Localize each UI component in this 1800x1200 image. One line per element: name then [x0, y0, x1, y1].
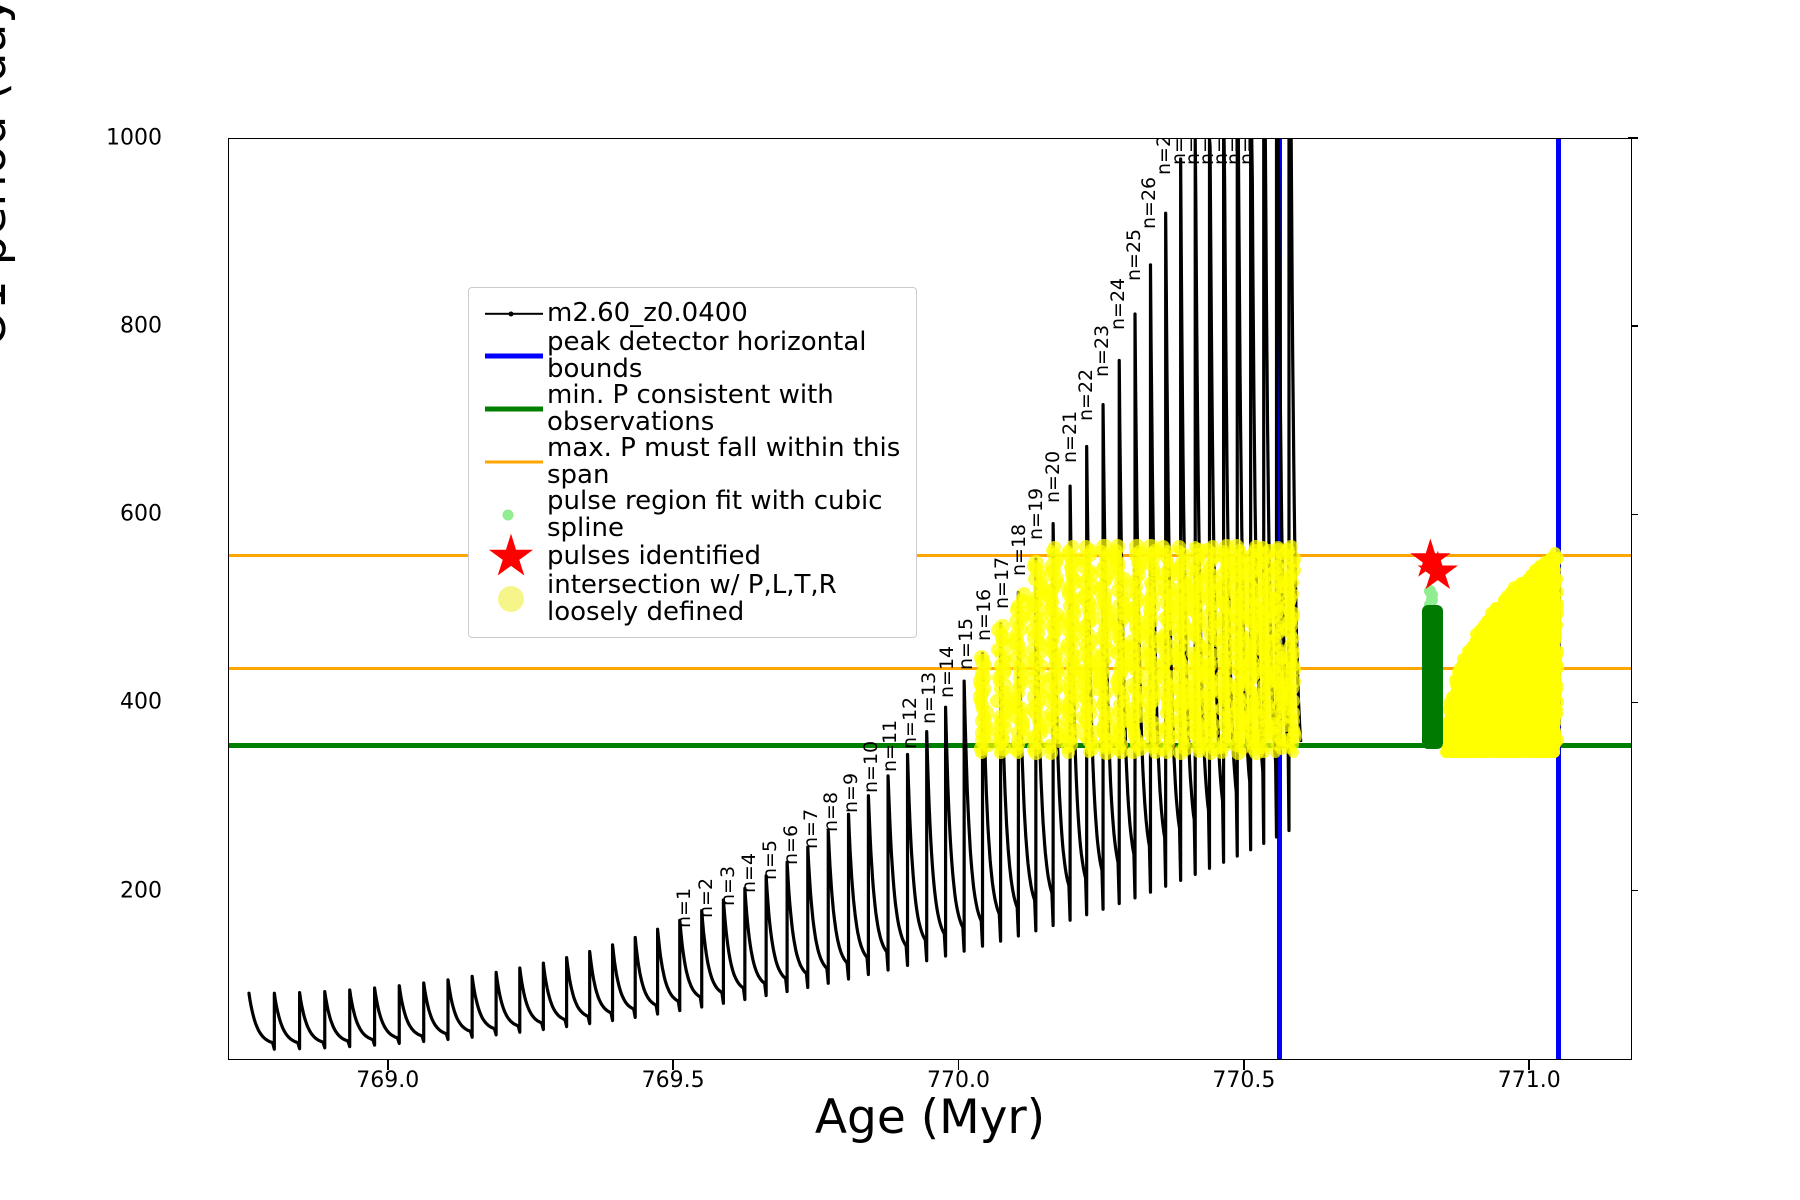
- x-tick-mark: [1528, 1060, 1530, 1070]
- pulse-label: n=5: [759, 840, 781, 880]
- loose-intersection-dot: [1048, 541, 1061, 554]
- pale-yellow-dot-icon: [481, 583, 547, 614]
- line-swatch: [485, 312, 543, 314]
- dot-swatch: [498, 586, 524, 612]
- pulse-label: n=24: [1107, 278, 1129, 330]
- loose-intersection-dot: [1028, 555, 1044, 571]
- loose-intersection-dot: [995, 619, 1009, 633]
- dot-swatch: [503, 509, 514, 520]
- x-tick-label: 771.0: [1498, 1068, 1561, 1093]
- green-dot-icon: [481, 499, 547, 530]
- min-period-column: [1422, 605, 1443, 749]
- legend-item-1[interactable]: peak detector horizontal bounds: [481, 329, 904, 382]
- black-line-marker-icon: [481, 298, 547, 329]
- x-tick-label: 770.0: [927, 1068, 990, 1093]
- y-tick-label: 400: [120, 690, 162, 715]
- legend-item-2[interactable]: min. P consistent with observations: [481, 382, 904, 435]
- legend-item-5[interactable]: pulses identified: [481, 541, 904, 572]
- orange-line-icon: [481, 446, 547, 477]
- legend-item-label: intersection w/ P,L,T,R loosely defined: [547, 572, 837, 625]
- loose-intersection-dot: [1079, 540, 1093, 554]
- pulse-label: n=2: [695, 878, 717, 918]
- pulse-label: n=9: [840, 773, 862, 813]
- pulse-label: n=7: [800, 809, 822, 849]
- pulse-label: n=23: [1091, 325, 1113, 377]
- legend-item-label: peak detector horizontal bounds: [547, 329, 904, 382]
- x-tick-label: 769.5: [642, 1068, 705, 1093]
- pulse-label: n=4: [738, 853, 760, 893]
- loose-intersection-dot: [1284, 540, 1298, 554]
- x-tick-mark: [672, 1060, 674, 1070]
- x-tick-mark: [1243, 1060, 1245, 1070]
- x-tick-label: 770.5: [1212, 1068, 1275, 1093]
- x-tick-mark: [387, 1060, 389, 1070]
- legend-item-3[interactable]: max. P must fall within this span: [481, 435, 904, 488]
- x-tick-mark: [958, 1060, 960, 1070]
- chart-canvas: O1 period (days) Age (Myr) 2004006008001…: [0, 0, 1800, 1200]
- legend-item-0[interactable]: m2.60_z0.0400: [481, 298, 904, 329]
- y-tick-label: 200: [120, 878, 162, 903]
- pulse-label: n=26: [1138, 177, 1160, 229]
- line-swatch: [485, 353, 543, 358]
- pulse-label: n=6: [780, 825, 802, 865]
- red-star-icon: [481, 541, 547, 572]
- legend-item-label: pulses identified: [547, 543, 761, 570]
- point-marker: [509, 311, 514, 316]
- loose-intersection-dot: [1172, 540, 1186, 554]
- line-swatch: [485, 406, 543, 411]
- plot-area: n=1n=2n=3n=4n=5n=6n=7n=8n=9n=10n=11n=12n…: [228, 138, 1632, 1060]
- x-tick-label: 769.0: [356, 1068, 419, 1093]
- x-axis-title: Age (Myr): [228, 1090, 1632, 1145]
- y-tick-label: 800: [120, 314, 162, 339]
- legend-item-6[interactable]: intersection w/ P,L,T,R loosely defined: [481, 572, 904, 625]
- legend-item-label: min. P consistent with observations: [547, 382, 904, 435]
- legend[interactable]: m2.60_z0.0400peak detector horizontal bo…: [468, 287, 917, 638]
- o1-period-track: [229, 139, 1631, 1059]
- pulse-label: n=1: [673, 888, 695, 928]
- legend-item-label: pulse region fit with cubic spline: [547, 488, 904, 541]
- line-swatch: [485, 460, 543, 463]
- legend-item-label: m2.60_z0.0400: [547, 300, 748, 327]
- pulse-label: n=25: [1123, 229, 1145, 281]
- pulse-label: n=33: [1236, 138, 1258, 165]
- y-axis-title: O1 period (days): [0, 0, 17, 430]
- legend-item-label: max. P must fall within this span: [547, 435, 904, 488]
- green-line-icon: [481, 393, 547, 424]
- spline-fit-dot: [1424, 585, 1436, 597]
- pulse-label: n=3: [717, 866, 739, 906]
- y-tick-label: 1000: [106, 126, 162, 151]
- blue-line-icon: [481, 340, 547, 371]
- y-tick-label: 600: [120, 502, 162, 527]
- legend-item-4[interactable]: pulse region fit with cubic spline: [481, 488, 904, 541]
